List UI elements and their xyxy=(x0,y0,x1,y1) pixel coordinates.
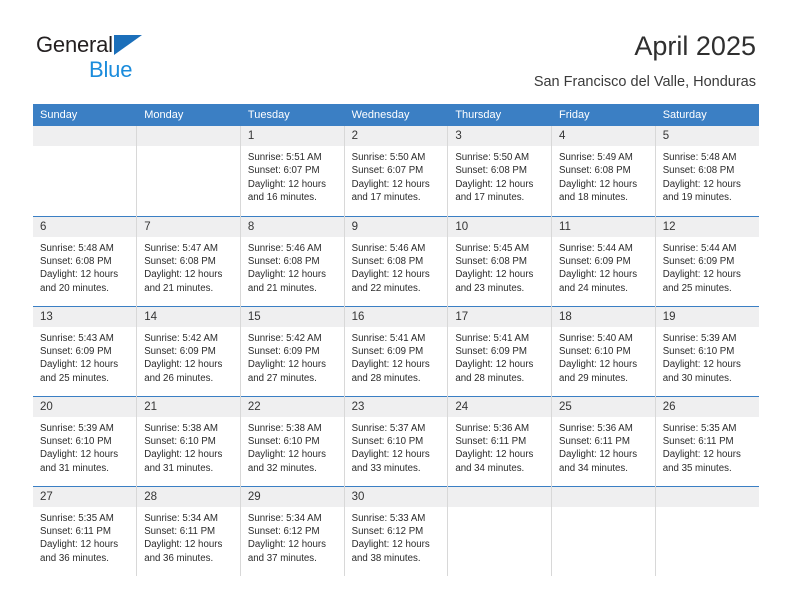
daylight-text-line1: Daylight: 12 hours xyxy=(40,358,130,371)
daylight-text-line1: Daylight: 12 hours xyxy=(248,358,338,371)
day-cell-6[interactable]: 6Sunrise: 5:48 AMSunset: 6:08 PMDaylight… xyxy=(33,216,137,306)
weekday-header-tuesday: Tuesday xyxy=(240,104,344,126)
sunset-text: Sunset: 6:07 PM xyxy=(352,164,442,177)
sunset-text: Sunset: 6:08 PM xyxy=(248,255,338,268)
weekday-header-monday: Monday xyxy=(137,104,241,126)
daylight-text-line2: and 33 minutes. xyxy=(352,462,442,475)
day-cell-25[interactable]: 25Sunrise: 5:36 AMSunset: 6:11 PMDayligh… xyxy=(552,396,656,486)
sunset-text: Sunset: 6:10 PM xyxy=(40,435,130,448)
daylight-text-line1: Daylight: 12 hours xyxy=(352,178,442,191)
day-cell-13[interactable]: 13Sunrise: 5:43 AMSunset: 6:09 PMDayligh… xyxy=(33,306,137,396)
day-cell-5[interactable]: 5Sunrise: 5:48 AMSunset: 6:08 PMDaylight… xyxy=(655,126,759,216)
daylight-text-line2: and 28 minutes. xyxy=(455,372,545,385)
daylight-text-line2: and 17 minutes. xyxy=(455,191,545,204)
sunset-text: Sunset: 6:08 PM xyxy=(455,255,545,268)
sunset-text: Sunset: 6:07 PM xyxy=(248,164,338,177)
day-number: 27 xyxy=(33,487,136,507)
day-number xyxy=(137,126,240,146)
day-number: 5 xyxy=(656,126,759,146)
day-cell-20[interactable]: 20Sunrise: 5:39 AMSunset: 6:10 PMDayligh… xyxy=(33,396,137,486)
sunrise-text: Sunrise: 5:50 AM xyxy=(352,151,442,164)
day-cell-29[interactable]: 29Sunrise: 5:34 AMSunset: 6:12 PMDayligh… xyxy=(240,486,344,576)
daylight-text-line1: Daylight: 12 hours xyxy=(559,178,649,191)
daylight-text-line2: and 36 minutes. xyxy=(144,552,234,565)
sunrise-text: Sunrise: 5:46 AM xyxy=(248,242,338,255)
calendar-week-row: 27Sunrise: 5:35 AMSunset: 6:11 PMDayligh… xyxy=(33,486,759,576)
day-number: 24 xyxy=(448,397,551,417)
generalblue-logo[interactable]: General Blue xyxy=(36,32,226,84)
daylight-text-line2: and 37 minutes. xyxy=(248,552,338,565)
day-number: 4 xyxy=(552,126,655,146)
sunset-text: Sunset: 6:10 PM xyxy=(248,435,338,448)
page-title: April 2025 xyxy=(534,30,756,62)
weekday-header-row: SundayMondayTuesdayWednesdayThursdayFrid… xyxy=(33,104,759,126)
day-cell-empty xyxy=(552,486,656,576)
sunrise-text: Sunrise: 5:44 AM xyxy=(559,242,649,255)
day-details: Sunrise: 5:36 AMSunset: 6:11 PMDaylight:… xyxy=(448,417,551,476)
day-details: Sunrise: 5:37 AMSunset: 6:10 PMDaylight:… xyxy=(345,417,448,476)
day-details: Sunrise: 5:46 AMSunset: 6:08 PMDaylight:… xyxy=(345,237,448,296)
daylight-text-line2: and 16 minutes. xyxy=(248,191,338,204)
sunrise-text: Sunrise: 5:38 AM xyxy=(144,422,234,435)
daylight-text-line1: Daylight: 12 hours xyxy=(559,358,649,371)
sunset-text: Sunset: 6:08 PM xyxy=(40,255,130,268)
sunset-text: Sunset: 6:09 PM xyxy=(663,255,753,268)
daylight-text-line2: and 17 minutes. xyxy=(352,191,442,204)
sunset-text: Sunset: 6:08 PM xyxy=(352,255,442,268)
day-cell-3[interactable]: 3Sunrise: 5:50 AMSunset: 6:08 PMDaylight… xyxy=(448,126,552,216)
day-details: Sunrise: 5:34 AMSunset: 6:12 PMDaylight:… xyxy=(241,507,344,566)
day-number: 22 xyxy=(241,397,344,417)
daylight-text-line1: Daylight: 12 hours xyxy=(352,268,442,281)
sunrise-text: Sunrise: 5:41 AM xyxy=(455,332,545,345)
day-details: Sunrise: 5:45 AMSunset: 6:08 PMDaylight:… xyxy=(448,237,551,296)
sunset-text: Sunset: 6:09 PM xyxy=(455,345,545,358)
daylight-text-line1: Daylight: 12 hours xyxy=(248,268,338,281)
sunrise-text: Sunrise: 5:50 AM xyxy=(455,151,545,164)
day-cell-15[interactable]: 15Sunrise: 5:42 AMSunset: 6:09 PMDayligh… xyxy=(240,306,344,396)
day-details: Sunrise: 5:36 AMSunset: 6:11 PMDaylight:… xyxy=(552,417,655,476)
daylight-text-line1: Daylight: 12 hours xyxy=(663,268,753,281)
sunrise-text: Sunrise: 5:34 AM xyxy=(144,512,234,525)
day-details: Sunrise: 5:42 AMSunset: 6:09 PMDaylight:… xyxy=(241,327,344,386)
day-details: Sunrise: 5:33 AMSunset: 6:12 PMDaylight:… xyxy=(345,507,448,566)
day-number: 3 xyxy=(448,126,551,146)
day-number: 29 xyxy=(241,487,344,507)
sunset-text: Sunset: 6:09 PM xyxy=(352,345,442,358)
day-cell-9[interactable]: 9Sunrise: 5:46 AMSunset: 6:08 PMDaylight… xyxy=(344,216,448,306)
daylight-text-line1: Daylight: 12 hours xyxy=(559,448,649,461)
daylight-text-line1: Daylight: 12 hours xyxy=(455,268,545,281)
day-cell-27[interactable]: 27Sunrise: 5:35 AMSunset: 6:11 PMDayligh… xyxy=(33,486,137,576)
daylight-text-line2: and 35 minutes. xyxy=(663,462,753,475)
weekday-header-wednesday: Wednesday xyxy=(344,104,448,126)
sunrise-text: Sunrise: 5:36 AM xyxy=(455,422,545,435)
daylight-text-line2: and 18 minutes. xyxy=(559,191,649,204)
page-header: General Blue April 2025 San Francisco de… xyxy=(0,0,792,104)
day-details: Sunrise: 5:38 AMSunset: 6:10 PMDaylight:… xyxy=(241,417,344,476)
sunrise-text: Sunrise: 5:45 AM xyxy=(455,242,545,255)
day-cell-2[interactable]: 2Sunrise: 5:50 AMSunset: 6:07 PMDaylight… xyxy=(344,126,448,216)
daylight-text-line1: Daylight: 12 hours xyxy=(248,178,338,191)
day-details: Sunrise: 5:40 AMSunset: 6:10 PMDaylight:… xyxy=(552,327,655,386)
daylight-text-line1: Daylight: 12 hours xyxy=(144,448,234,461)
day-number: 10 xyxy=(448,217,551,237)
sunrise-text: Sunrise: 5:35 AM xyxy=(40,512,130,525)
sunrise-text: Sunrise: 5:41 AM xyxy=(352,332,442,345)
day-cell-1[interactable]: 1Sunrise: 5:51 AMSunset: 6:07 PMDaylight… xyxy=(240,126,344,216)
day-cell-19[interactable]: 19Sunrise: 5:39 AMSunset: 6:10 PMDayligh… xyxy=(655,306,759,396)
day-number: 28 xyxy=(137,487,240,507)
day-cell-14[interactable]: 14Sunrise: 5:42 AMSunset: 6:09 PMDayligh… xyxy=(137,306,241,396)
daylight-text-line2: and 36 minutes. xyxy=(40,552,130,565)
day-cell-16[interactable]: 16Sunrise: 5:41 AMSunset: 6:09 PMDayligh… xyxy=(344,306,448,396)
calendar-week-row: 6Sunrise: 5:48 AMSunset: 6:08 PMDaylight… xyxy=(33,216,759,306)
daylight-text-line2: and 25 minutes. xyxy=(40,372,130,385)
sunrise-text: Sunrise: 5:39 AM xyxy=(663,332,753,345)
daylight-text-line2: and 21 minutes. xyxy=(248,282,338,295)
daylight-text-line1: Daylight: 12 hours xyxy=(248,448,338,461)
daylight-text-line2: and 22 minutes. xyxy=(352,282,442,295)
daylight-text-line1: Daylight: 12 hours xyxy=(455,448,545,461)
day-cell-28[interactable]: 28Sunrise: 5:34 AMSunset: 6:11 PMDayligh… xyxy=(137,486,241,576)
sunset-text: Sunset: 6:08 PM xyxy=(455,164,545,177)
calendar-week-row: 20Sunrise: 5:39 AMSunset: 6:10 PMDayligh… xyxy=(33,396,759,486)
sunrise-text: Sunrise: 5:46 AM xyxy=(352,242,442,255)
day-details: Sunrise: 5:39 AMSunset: 6:10 PMDaylight:… xyxy=(656,327,759,386)
day-number: 19 xyxy=(656,307,759,327)
daylight-text-line1: Daylight: 12 hours xyxy=(40,448,130,461)
day-cell-12[interactable]: 12Sunrise: 5:44 AMSunset: 6:09 PMDayligh… xyxy=(655,216,759,306)
sunrise-text: Sunrise: 5:42 AM xyxy=(144,332,234,345)
sunrise-text: Sunrise: 5:33 AM xyxy=(352,512,442,525)
day-details: Sunrise: 5:48 AMSunset: 6:08 PMDaylight:… xyxy=(33,237,136,296)
sunset-text: Sunset: 6:08 PM xyxy=(144,255,234,268)
daylight-text-line2: and 38 minutes. xyxy=(352,552,442,565)
day-cell-10[interactable]: 10Sunrise: 5:45 AMSunset: 6:08 PMDayligh… xyxy=(448,216,552,306)
sunset-text: Sunset: 6:10 PM xyxy=(559,345,649,358)
daylight-text-line1: Daylight: 12 hours xyxy=(40,268,130,281)
day-number: 16 xyxy=(345,307,448,327)
day-cell-24[interactable]: 24Sunrise: 5:36 AMSunset: 6:11 PMDayligh… xyxy=(448,396,552,486)
sunrise-text: Sunrise: 5:48 AM xyxy=(40,242,130,255)
calendar-week-row: 13Sunrise: 5:43 AMSunset: 6:09 PMDayligh… xyxy=(33,306,759,396)
sunset-text: Sunset: 6:10 PM xyxy=(352,435,442,448)
daylight-text-line2: and 31 minutes. xyxy=(40,462,130,475)
day-details: Sunrise: 5:49 AMSunset: 6:08 PMDaylight:… xyxy=(552,146,655,205)
sunset-text: Sunset: 6:10 PM xyxy=(144,435,234,448)
logo-text-blue: Blue xyxy=(89,57,132,83)
daylight-text-line2: and 34 minutes. xyxy=(455,462,545,475)
calendar-page: General Blue April 2025 San Francisco de… xyxy=(0,0,792,612)
day-cell-empty xyxy=(33,126,137,216)
daylight-text-line1: Daylight: 12 hours xyxy=(352,538,442,551)
sunrise-text: Sunrise: 5:51 AM xyxy=(248,151,338,164)
daylight-text-line1: Daylight: 12 hours xyxy=(663,358,753,371)
sunset-text: Sunset: 6:09 PM xyxy=(248,345,338,358)
day-number: 18 xyxy=(552,307,655,327)
sunrise-text: Sunrise: 5:40 AM xyxy=(559,332,649,345)
weekday-header-thursday: Thursday xyxy=(448,104,552,126)
day-number: 6 xyxy=(33,217,136,237)
sunset-text: Sunset: 6:11 PM xyxy=(455,435,545,448)
day-details: Sunrise: 5:42 AMSunset: 6:09 PMDaylight:… xyxy=(137,327,240,386)
day-details: Sunrise: 5:44 AMSunset: 6:09 PMDaylight:… xyxy=(656,237,759,296)
day-number: 14 xyxy=(137,307,240,327)
day-number: 8 xyxy=(241,217,344,237)
day-number: 17 xyxy=(448,307,551,327)
day-details: Sunrise: 5:50 AMSunset: 6:08 PMDaylight:… xyxy=(448,146,551,205)
day-cell-8[interactable]: 8Sunrise: 5:46 AMSunset: 6:08 PMDaylight… xyxy=(240,216,344,306)
sunrise-text: Sunrise: 5:37 AM xyxy=(352,422,442,435)
daylight-text-line2: and 23 minutes. xyxy=(455,282,545,295)
sunrise-text: Sunrise: 5:34 AM xyxy=(248,512,338,525)
daylight-text-line2: and 21 minutes. xyxy=(144,282,234,295)
day-details: Sunrise: 5:51 AMSunset: 6:07 PMDaylight:… xyxy=(241,146,344,205)
sunset-text: Sunset: 6:11 PM xyxy=(663,435,753,448)
sunrise-text: Sunrise: 5:36 AM xyxy=(559,422,649,435)
day-cell-18[interactable]: 18Sunrise: 5:40 AMSunset: 6:10 PMDayligh… xyxy=(552,306,656,396)
day-details: Sunrise: 5:38 AMSunset: 6:10 PMDaylight:… xyxy=(137,417,240,476)
sunset-text: Sunset: 6:12 PM xyxy=(248,525,338,538)
sunrise-text: Sunrise: 5:42 AM xyxy=(248,332,338,345)
day-cell-21[interactable]: 21Sunrise: 5:38 AMSunset: 6:10 PMDayligh… xyxy=(137,396,241,486)
day-number: 20 xyxy=(33,397,136,417)
daylight-text-line1: Daylight: 12 hours xyxy=(144,358,234,371)
logo-text-general: General xyxy=(36,32,113,57)
sunset-text: Sunset: 6:08 PM xyxy=(663,164,753,177)
day-number xyxy=(656,487,759,507)
weekday-header-friday: Friday xyxy=(552,104,656,126)
daylight-text-line1: Daylight: 12 hours xyxy=(144,268,234,281)
day-details: Sunrise: 5:34 AMSunset: 6:11 PMDaylight:… xyxy=(137,507,240,566)
day-number: 12 xyxy=(656,217,759,237)
day-number: 23 xyxy=(345,397,448,417)
weekday-header-sunday: Sunday xyxy=(33,104,137,126)
sunset-text: Sunset: 6:09 PM xyxy=(40,345,130,358)
daylight-text-line2: and 24 minutes. xyxy=(559,282,649,295)
daylight-text-line1: Daylight: 12 hours xyxy=(663,448,753,461)
day-number: 11 xyxy=(552,217,655,237)
day-number: 1 xyxy=(241,126,344,146)
weekday-header-saturday: Saturday xyxy=(655,104,759,126)
title-block: April 2025 San Francisco del Valle, Hond… xyxy=(534,30,756,92)
day-cell-11[interactable]: 11Sunrise: 5:44 AMSunset: 6:09 PMDayligh… xyxy=(552,216,656,306)
sunset-text: Sunset: 6:09 PM xyxy=(144,345,234,358)
logo-triangle-icon xyxy=(114,35,142,55)
day-number: 15 xyxy=(241,307,344,327)
day-number: 13 xyxy=(33,307,136,327)
logo-top-row: General xyxy=(36,32,226,58)
daylight-text-line2: and 30 minutes. xyxy=(663,372,753,385)
daylight-text-line1: Daylight: 12 hours xyxy=(455,358,545,371)
sunrise-text: Sunrise: 5:49 AM xyxy=(559,151,649,164)
daylight-text-line2: and 34 minutes. xyxy=(559,462,649,475)
daylight-text-line1: Daylight: 12 hours xyxy=(352,358,442,371)
daylight-text-line1: Daylight: 12 hours xyxy=(352,448,442,461)
day-number: 26 xyxy=(656,397,759,417)
daylight-text-line1: Daylight: 12 hours xyxy=(40,538,130,551)
daylight-text-line1: Daylight: 12 hours xyxy=(559,268,649,281)
daylight-text-line2: and 32 minutes. xyxy=(248,462,338,475)
day-number: 9 xyxy=(345,217,448,237)
sunrise-text: Sunrise: 5:39 AM xyxy=(40,422,130,435)
calendar-week-row: 1Sunrise: 5:51 AMSunset: 6:07 PMDaylight… xyxy=(33,126,759,216)
sunrise-text: Sunrise: 5:38 AM xyxy=(248,422,338,435)
sunset-text: Sunset: 6:11 PM xyxy=(559,435,649,448)
daylight-text-line1: Daylight: 12 hours xyxy=(144,538,234,551)
day-number: 25 xyxy=(552,397,655,417)
daylight-text-line1: Daylight: 12 hours xyxy=(248,538,338,551)
sunrise-text: Sunrise: 5:35 AM xyxy=(663,422,753,435)
day-cell-22[interactable]: 22Sunrise: 5:38 AMSunset: 6:10 PMDayligh… xyxy=(240,396,344,486)
daylight-text-line1: Daylight: 12 hours xyxy=(455,178,545,191)
sunset-text: Sunset: 6:11 PM xyxy=(40,525,130,538)
sunrise-text: Sunrise: 5:44 AM xyxy=(663,242,753,255)
day-number xyxy=(448,487,551,507)
day-details: Sunrise: 5:48 AMSunset: 6:08 PMDaylight:… xyxy=(656,146,759,205)
day-number xyxy=(33,126,136,146)
day-cell-empty xyxy=(448,486,552,576)
calendar-grid: SundayMondayTuesdayWednesdayThursdayFrid… xyxy=(33,104,759,576)
sunset-text: Sunset: 6:10 PM xyxy=(663,345,753,358)
sunrise-text: Sunrise: 5:48 AM xyxy=(663,151,753,164)
day-number: 7 xyxy=(137,217,240,237)
sunset-text: Sunset: 6:08 PM xyxy=(559,164,649,177)
day-details: Sunrise: 5:46 AMSunset: 6:08 PMDaylight:… xyxy=(241,237,344,296)
daylight-text-line2: and 31 minutes. xyxy=(144,462,234,475)
page-subtitle: San Francisco del Valle, Honduras xyxy=(534,72,756,92)
day-number: 21 xyxy=(137,397,240,417)
day-details: Sunrise: 5:41 AMSunset: 6:09 PMDaylight:… xyxy=(448,327,551,386)
daylight-text-line2: and 20 minutes. xyxy=(40,282,130,295)
day-cell-4[interactable]: 4Sunrise: 5:49 AMSunset: 6:08 PMDaylight… xyxy=(552,126,656,216)
day-details: Sunrise: 5:35 AMSunset: 6:11 PMDaylight:… xyxy=(33,507,136,566)
day-details: Sunrise: 5:44 AMSunset: 6:09 PMDaylight:… xyxy=(552,237,655,296)
daylight-text-line2: and 19 minutes. xyxy=(663,191,753,204)
day-cell-26[interactable]: 26Sunrise: 5:35 AMSunset: 6:11 PMDayligh… xyxy=(655,396,759,486)
daylight-text-line2: and 27 minutes. xyxy=(248,372,338,385)
day-number: 30 xyxy=(345,487,448,507)
daylight-text-line2: and 29 minutes. xyxy=(559,372,649,385)
day-details: Sunrise: 5:43 AMSunset: 6:09 PMDaylight:… xyxy=(33,327,136,386)
day-cell-30[interactable]: 30Sunrise: 5:33 AMSunset: 6:12 PMDayligh… xyxy=(344,486,448,576)
day-details: Sunrise: 5:35 AMSunset: 6:11 PMDaylight:… xyxy=(656,417,759,476)
daylight-text-line2: and 26 minutes. xyxy=(144,372,234,385)
day-number: 2 xyxy=(345,126,448,146)
day-cell-7[interactable]: 7Sunrise: 5:47 AMSunset: 6:08 PMDaylight… xyxy=(137,216,241,306)
day-number xyxy=(552,487,655,507)
day-details: Sunrise: 5:47 AMSunset: 6:08 PMDaylight:… xyxy=(137,237,240,296)
day-cell-empty xyxy=(137,126,241,216)
sunrise-text: Sunrise: 5:47 AM xyxy=(144,242,234,255)
daylight-text-line2: and 28 minutes. xyxy=(352,372,442,385)
daylight-text-line2: and 25 minutes. xyxy=(663,282,753,295)
day-cell-empty xyxy=(655,486,759,576)
sunset-text: Sunset: 6:11 PM xyxy=(144,525,234,538)
day-details: Sunrise: 5:39 AMSunset: 6:10 PMDaylight:… xyxy=(33,417,136,476)
day-cell-17[interactable]: 17Sunrise: 5:41 AMSunset: 6:09 PMDayligh… xyxy=(448,306,552,396)
sunrise-text: Sunrise: 5:43 AM xyxy=(40,332,130,345)
day-details: Sunrise: 5:41 AMSunset: 6:09 PMDaylight:… xyxy=(345,327,448,386)
day-details: Sunrise: 5:50 AMSunset: 6:07 PMDaylight:… xyxy=(345,146,448,205)
sunset-text: Sunset: 6:09 PM xyxy=(559,255,649,268)
daylight-text-line1: Daylight: 12 hours xyxy=(663,178,753,191)
day-cell-23[interactable]: 23Sunrise: 5:37 AMSunset: 6:10 PMDayligh… xyxy=(344,396,448,486)
sunset-text: Sunset: 6:12 PM xyxy=(352,525,442,538)
